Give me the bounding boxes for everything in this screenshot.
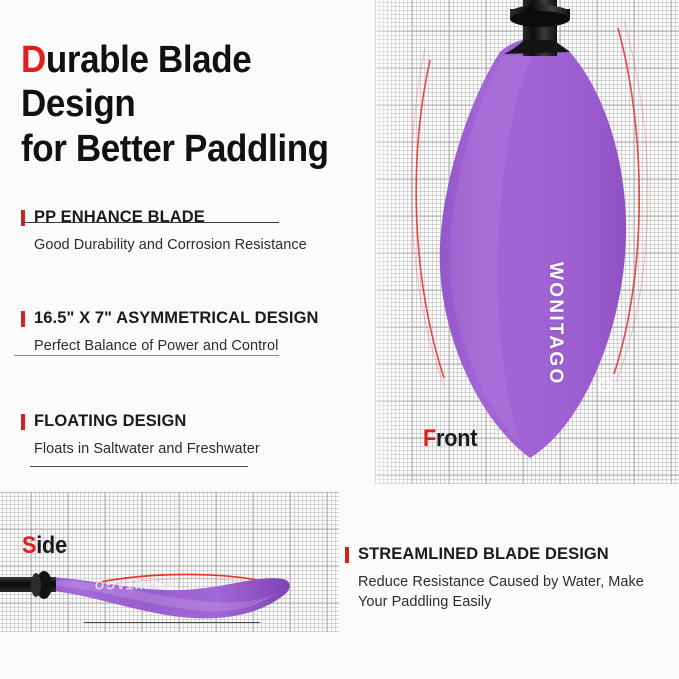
bullet-bar-icon: [21, 414, 25, 430]
blade-ring-detail: [599, 379, 611, 391]
view-label-side: Side: [22, 532, 67, 560]
side-baseline: [84, 622, 260, 623]
feature-item-asymmetrical-design: 16.5" X 7" ASYMMETRICAL DESIGN Perfect B…: [21, 309, 381, 357]
feature-title: STREAMLINED BLADE DESIGN: [345, 545, 665, 564]
brand-logo-side: WONITAGO: [93, 578, 173, 592]
feature-title: FLOATING DESIGN: [21, 412, 381, 431]
feature-description: Floats in Saltwater and Freshwater: [34, 440, 381, 460]
front-label-initial-cap: F: [423, 425, 436, 452]
feature-title: 16.5" X 7" ASYMMETRICAL DESIGN: [21, 309, 381, 328]
bullet-bar-icon: [21, 311, 25, 327]
headline-line-2: for Better Paddling: [21, 128, 329, 170]
side-label-initial-cap: S: [22, 532, 36, 559]
paddle-ferrule-side-inner: [31, 573, 41, 597]
page-title: Durable Blade Design for Better Paddling: [21, 38, 366, 171]
feature-item-floating-design: FLOATING DESIGN Floats in Saltwater and …: [21, 412, 381, 460]
bullet-bar-icon: [345, 547, 349, 563]
outline-guide-left: [416, 60, 444, 378]
headline-initial-cap: D: [21, 39, 46, 81]
feature-title: PP ENHANCE BLADE: [21, 208, 381, 227]
headline-line-1: urable Blade Design: [21, 39, 251, 125]
feature-description: Reduce Resistance Caused by Water, Make …: [358, 573, 665, 612]
view-label-front: Front: [423, 425, 477, 453]
bullet-bar-icon: [21, 210, 25, 226]
paddle-ferrule-collar-lower: [510, 11, 570, 27]
feature-description: Good Durability and Corrosion Resistance: [34, 236, 381, 256]
measurement-line-base: [30, 466, 248, 467]
feature-item-streamlined-blade-design: STREAMLINED BLADE DESIGN Reduce Resistan…: [345, 545, 665, 612]
product-infographic: Durable Blade Design for Better Paddling…: [0, 0, 679, 679]
feature-title-text: PP ENHANCE BLADE: [34, 208, 205, 227]
feature-title-text: 16.5" X 7" ASYMMETRICAL DESIGN: [34, 309, 319, 328]
feature-description: Perfect Balance of Power and Control: [34, 337, 381, 357]
feature-item-pp-enhance-blade: PP ENHANCE BLADE Good Durability and Cor…: [21, 208, 381, 256]
feature-title-text: STREAMLINED BLADE DESIGN: [358, 545, 609, 564]
feature-title-text: FLOATING DESIGN: [34, 412, 186, 431]
front-label-text: ront: [436, 425, 477, 452]
brand-logo-front: WONITAGO: [544, 262, 566, 386]
side-label-text: ide: [36, 532, 67, 559]
paddle-front-view-image: [400, 0, 679, 470]
